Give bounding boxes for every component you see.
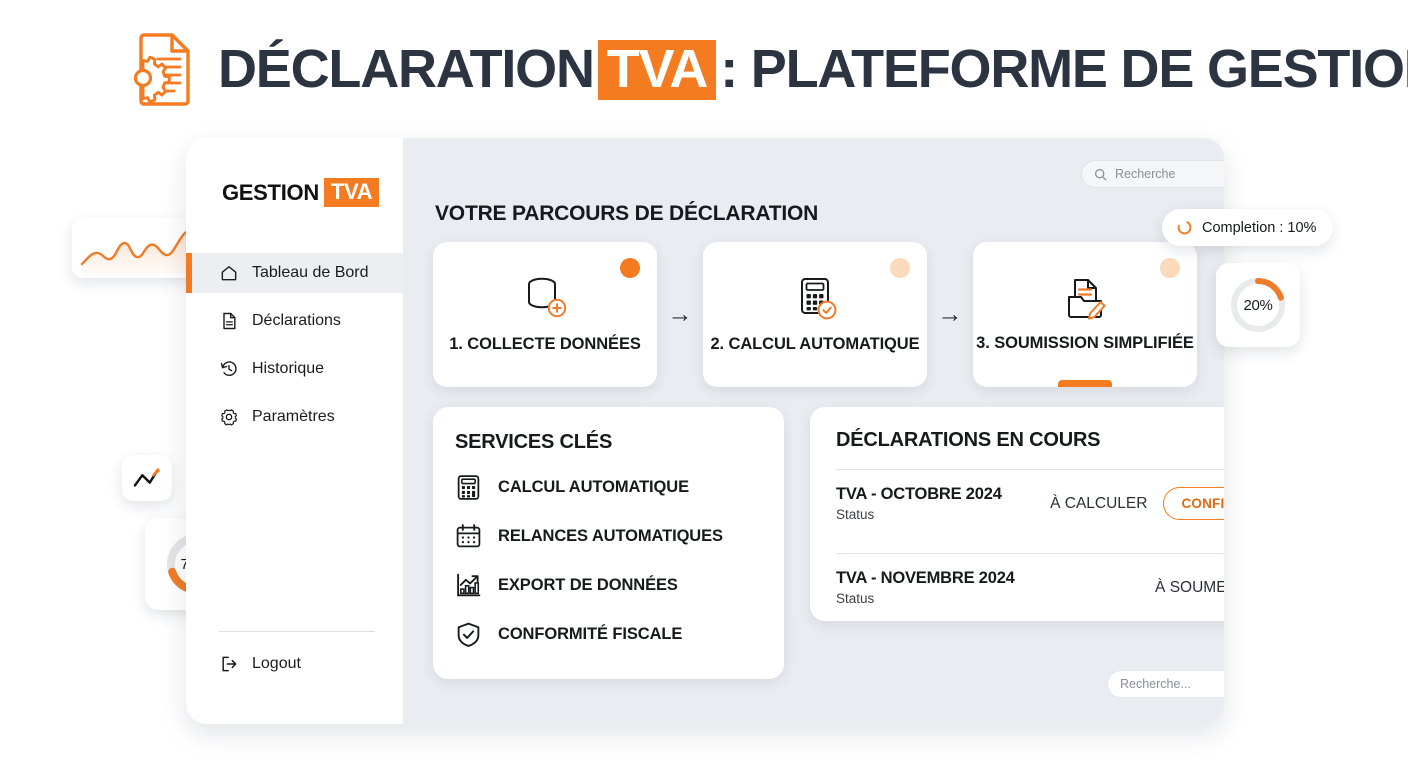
logout-label: Logout (252, 655, 301, 673)
document-icon (219, 311, 239, 331)
step-label: 2. CALCUL AUTOMATIQUE (710, 334, 919, 354)
calculator-check-icon (789, 274, 841, 324)
document-pencil-icon (1057, 275, 1113, 323)
service-item-export-de-donnees[interactable]: EXPORT DE DONNÉES (455, 572, 784, 599)
home-icon (219, 263, 239, 283)
app-window: GESTION TVA Tableau de Bord (186, 138, 1224, 724)
service-label: CONFORMITÉ FISCALE (498, 625, 682, 644)
top-bar: Recherche (433, 160, 1224, 188)
step-card-collecte-donnees[interactable]: 1. COLLECTE DONNÉES (433, 242, 657, 387)
brand-prefix: GESTION (222, 180, 319, 206)
section-title: VOTRE PARCOURS DE DÉCLARATION (435, 202, 1224, 226)
bottom-search-placeholder: Recherche... (1120, 677, 1191, 691)
sidebar-item-historique[interactable]: Historique (186, 349, 403, 389)
step-active-underline (1058, 380, 1112, 387)
sidebar-item-label: Paramètres (252, 408, 335, 426)
sidebar-divider (219, 631, 375, 632)
main-content: Recherche VOTRE PARCOURS DE DÉCLARATION (403, 138, 1224, 724)
donut-20-chart: 20% (1225, 272, 1291, 338)
status-badge: À SOUMETTRE (1155, 579, 1224, 597)
declaration-status-label: Status (836, 591, 1155, 606)
completion-label: Completion : 10% (1202, 220, 1316, 236)
sidebar-item-label: Déclarations (252, 312, 341, 330)
declaration-info: TVA - OCTOBRE 2024 Status (836, 485, 1050, 522)
calendar-icon (455, 523, 482, 550)
sidebar-item-label: Historique (252, 360, 324, 378)
services-panel: SERVICES CLÉS (433, 407, 784, 679)
donut-20-label: 20% (1243, 297, 1272, 314)
title-highlight-tva: TVA (598, 40, 716, 100)
sidebar-item-label: Tableau de Bord (252, 264, 369, 282)
screen: DÉCLARATION TVA : PLATEFORME DE GESTION (0, 0, 1408, 768)
search-icon (1094, 168, 1107, 181)
sidebar: GESTION TVA Tableau de Bord (186, 138, 403, 724)
step-card-calcul-automatique[interactable]: 2. CALCUL AUTOMATIQUE (703, 242, 927, 387)
step-status-dot (890, 258, 910, 278)
step-arrow-2: → (927, 302, 973, 327)
logout-icon (219, 654, 239, 674)
widget-line-card (122, 455, 172, 501)
step-status-dot (620, 258, 640, 278)
page-header: DÉCLARATION TVA : PLATEFORME DE GESTION (118, 28, 1408, 110)
service-item-calcul-automatique[interactable]: CALCUL AUTOMATIQUE (455, 474, 784, 501)
database-plus-icon (518, 274, 572, 324)
history-icon (219, 359, 239, 379)
step-card-soumission-simplifiee[interactable]: 3. SOUMISSION SIMPLIFIÉE (973, 242, 1197, 387)
sidebar-item-parametres[interactable]: Paramètres (186, 397, 403, 437)
declaration-name: TVA - OCTOBRE 2024 (836, 485, 1050, 504)
status-badge: À CALCULER (1050, 495, 1147, 513)
service-label: RELANCES AUTOMATIQUES (498, 527, 723, 546)
title-part-2: : PLATEFORME DE GESTION (720, 38, 1408, 100)
document-gear-icon (118, 28, 196, 110)
search-placeholder: Recherche (1115, 167, 1175, 181)
declarations-title: DÉCLARATIONS EN COURS (836, 429, 1224, 452)
shield-check-icon (455, 621, 482, 648)
widget-donut-20: 20% (1216, 263, 1300, 347)
lower-panels: SERVICES CLÉS (433, 407, 1224, 679)
table-row[interactable]: TVA - OCTOBRE 2024 Status À CALCULER CON… (836, 470, 1224, 536)
gear-icon (219, 407, 239, 427)
calculator-icon (455, 474, 482, 501)
service-label: CALCUL AUTOMATIQUE (498, 478, 689, 497)
line-chart-icon (131, 465, 163, 491)
services-title: SERVICES CLÉS (455, 431, 784, 454)
service-label: EXPORT DE DONNÉES (498, 576, 678, 595)
bottom-search-input[interactable]: Recherche... (1107, 670, 1224, 698)
service-item-conformite-fiscale[interactable]: CONFORMITÉ FISCALE (455, 621, 784, 648)
step-arrow-1: → (657, 302, 703, 327)
sidebar-item-tableau-de-bord[interactable]: Tableau de Bord (186, 253, 403, 293)
confirm-button[interactable]: CONFIRMER (1163, 487, 1224, 520)
search-input[interactable]: Recherche (1081, 160, 1224, 188)
steps-flow: 1. COLLECTE DONNÉES → (433, 242, 1224, 387)
sidebar-item-declarations[interactable]: Déclarations (186, 301, 403, 341)
declaration-status-label: Status (836, 507, 1050, 522)
logout-button[interactable]: Logout (186, 654, 403, 674)
completion-badge: Completion : 10% (1162, 209, 1333, 246)
step-label: 3. SOUMISSION SIMPLIFIÉE (976, 333, 1194, 353)
sidebar-brand: GESTION TVA (186, 168, 403, 207)
brand-highlight-tva: TVA (324, 178, 379, 207)
title-part-1: DÉCLARATION (218, 38, 594, 100)
services-list: CALCUL AUTOMATIQUE (455, 474, 784, 648)
step-status-dot (1160, 258, 1180, 278)
table-row[interactable]: TVA - NOVEMBRE 2024 Status À SOUMETTRE (836, 554, 1224, 620)
page-title: DÉCLARATION TVA : PLATEFORME DE GESTION (218, 38, 1408, 100)
declaration-info: TVA - NOVEMBRE 2024 Status (836, 569, 1155, 606)
spinner-icon (1176, 219, 1193, 236)
step-label: 1. COLLECTE DONNÉES (449, 334, 641, 354)
chart-bar-icon (455, 572, 482, 599)
sidebar-footer: Logout (186, 631, 403, 724)
declaration-name: TVA - NOVEMBRE 2024 (836, 569, 1155, 588)
sidebar-nav: Tableau de Bord Déclarations (186, 253, 403, 445)
declarations-panel: DÉCLARATIONS EN COURS TVA - OCTOBRE 2024… (810, 407, 1224, 621)
service-item-relances-automatiques[interactable]: RELANCES AUTOMATIQUES (455, 523, 784, 550)
